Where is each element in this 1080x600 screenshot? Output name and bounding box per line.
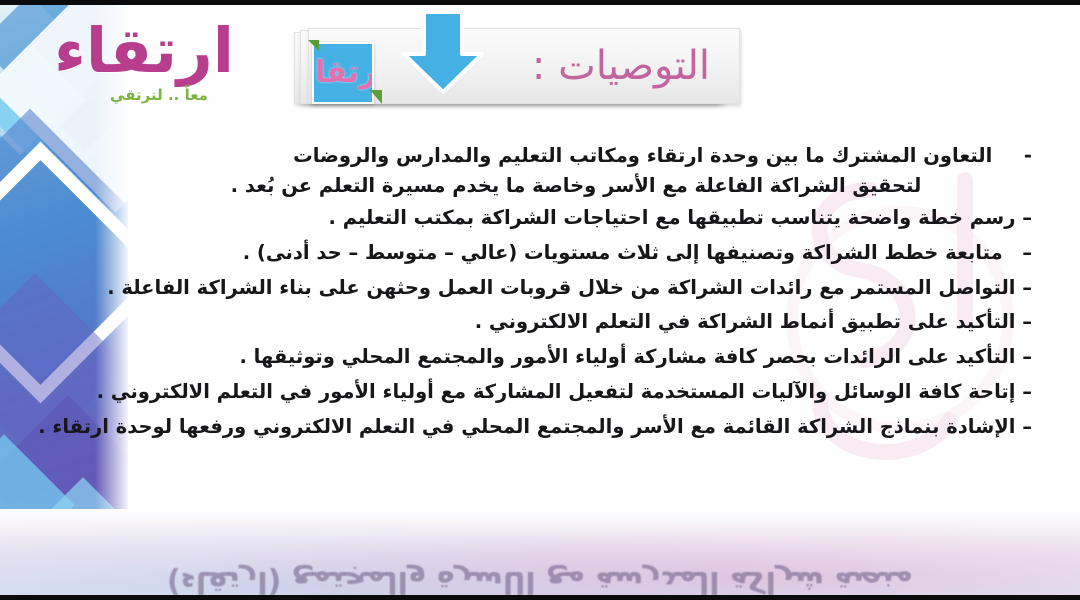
slide-root: ارتقاء معاً .. لنرتقي ارتقاء التوصيات : … (0, 0, 1080, 600)
list-item-text: الإشادة بنماذج الشراكة القائمة مع الأسر … (38, 415, 1015, 438)
down-arrow-icon (394, 10, 492, 96)
list-item-text: التأكيد على الرائدات بحصر كافة مشاركة أو… (239, 345, 1015, 368)
list-item-marker: – (1022, 415, 1032, 438)
list-item-marker: – (1022, 206, 1032, 229)
list-item-text: التعاون المشترك ما بين وحدة ارتقاء ومكات… (293, 144, 992, 167)
artiqa-logo-wordmark: ارتقاء (84, 8, 234, 94)
list-item-marker: – (1022, 310, 1032, 333)
list-item-marker: – (1022, 241, 1032, 264)
list-item: – التأكيد على تطبيق أنماط الشراكة في الت… (120, 308, 1032, 336)
list-item-marker: – (1022, 380, 1032, 403)
list-item-marker: – (1022, 345, 1032, 368)
list-item-text-continued: لتحقيق الشراكة الفاعلة مع الأسر وخاصة ما… (120, 172, 1032, 200)
artiqa-logo-chip-icon: ارتقاء (312, 42, 374, 104)
list-item-marker: - (1024, 144, 1032, 167)
green-accent-triangle-bottom-icon (370, 90, 382, 104)
list-item-text: متابعة خطط الشراكة وتصنيفها إلى ثلاث مست… (243, 241, 1003, 264)
list-item: – إتاحة كافة الوسائل والآليات المستخدمة … (120, 378, 1032, 406)
chip-wordmark: ارتقاء (312, 58, 374, 88)
list-item-text: التأكيد على تطبيق أنماط الشراكة في التعل… (475, 310, 1016, 333)
list-item: – متابعة خطط الشراكة وتصنيفها إلى ثلاث م… (120, 239, 1032, 267)
list-item-text: رسم خطة واضحة يتناسب تطبيقها مع احتياجات… (329, 206, 1016, 229)
title-banner: ارتقاء التوصيات : (290, 28, 740, 106)
recommendations-list: - التعاون المشترك ما بين وحدة ارتقاء ومك… (120, 142, 1050, 447)
list-item: - التعاون المشترك ما بين وحدة ارتقاء ومك… (120, 142, 1032, 199)
top-border-band (0, 0, 1080, 5)
list-item-text: التواصل المستمر مع رائدات الشراكة من خلا… (107, 276, 1015, 299)
footer-reflection-strip: منصة شراكة المدرسة مع الأسرة والمجتمع (ا… (0, 509, 1080, 595)
list-item-text: إتاحة كافة الوسائل والآليات المستخدمة لت… (97, 380, 1016, 403)
list-item: – التواصل المستمر مع رائدات الشراكة من خ… (120, 274, 1032, 302)
list-item: – رسم خطة واضحة يتناسب تطبيقها مع احتياج… (120, 204, 1032, 232)
list-item: – التأكيد على الرائدات بحصر كافة مشاركة … (120, 343, 1032, 371)
list-item: – الإشادة بنماذج الشراكة القائمة مع الأس… (120, 413, 1032, 441)
list-item-marker: – (1022, 276, 1032, 299)
green-accent-triangle-top-icon (308, 40, 319, 51)
footer-reflection-text: منصة شراكة المدرسة مع الأسرة والمجتمع (ا… (0, 564, 1080, 595)
artiqa-logo: ارتقاء معاً .. لنرتقي (84, 8, 234, 136)
bottom-border-band (0, 595, 1080, 600)
